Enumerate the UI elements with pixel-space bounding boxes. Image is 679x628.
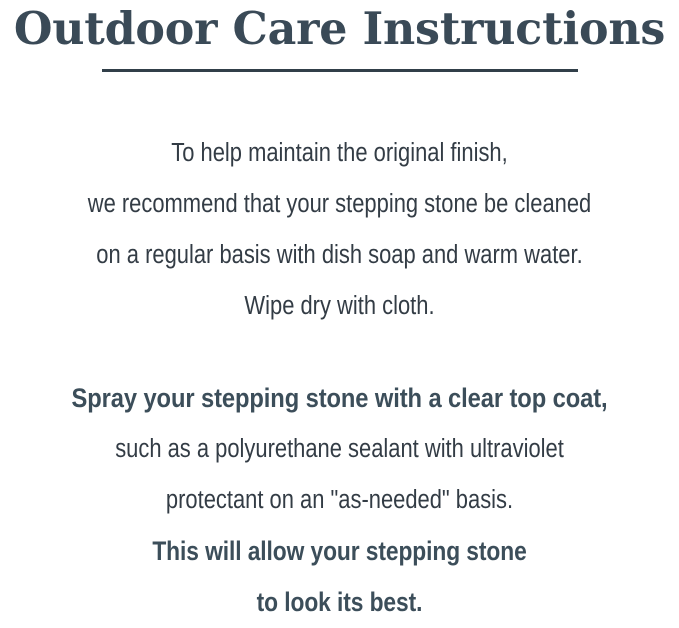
instruction-line-emphasis: This will allow your stepping stone bbox=[48, 526, 632, 577]
instruction-line-emphasis: Spray your stepping stone with a clear t… bbox=[36, 373, 644, 424]
instructions-paragraph-two: Spray your stepping stone with a clear t… bbox=[0, 373, 679, 628]
page-title: Outdoor Care Instructions bbox=[5, 0, 674, 58]
instructions-paragraph-one: To help maintain the original finish, we… bbox=[0, 128, 679, 332]
title-block: Outdoor Care Instructions bbox=[0, 0, 679, 58]
instruction-line: such as a polyurethane sealant with ultr… bbox=[48, 424, 632, 475]
instruction-line-emphasis: to look its best. bbox=[48, 577, 632, 628]
instruction-line: on a regular basis with dish soap and wa… bbox=[48, 230, 632, 281]
instruction-line: protectant on an "as-needed" basis. bbox=[48, 475, 632, 526]
instruction-line: To help maintain the original finish, bbox=[48, 128, 632, 179]
instruction-line: we recommend that your stepping stone be… bbox=[48, 179, 632, 230]
instruction-line: Wipe dry with cloth. bbox=[48, 281, 632, 332]
title-divider bbox=[102, 69, 578, 72]
care-instructions-page: Outdoor Care Instructions To help mainta… bbox=[0, 0, 679, 613]
